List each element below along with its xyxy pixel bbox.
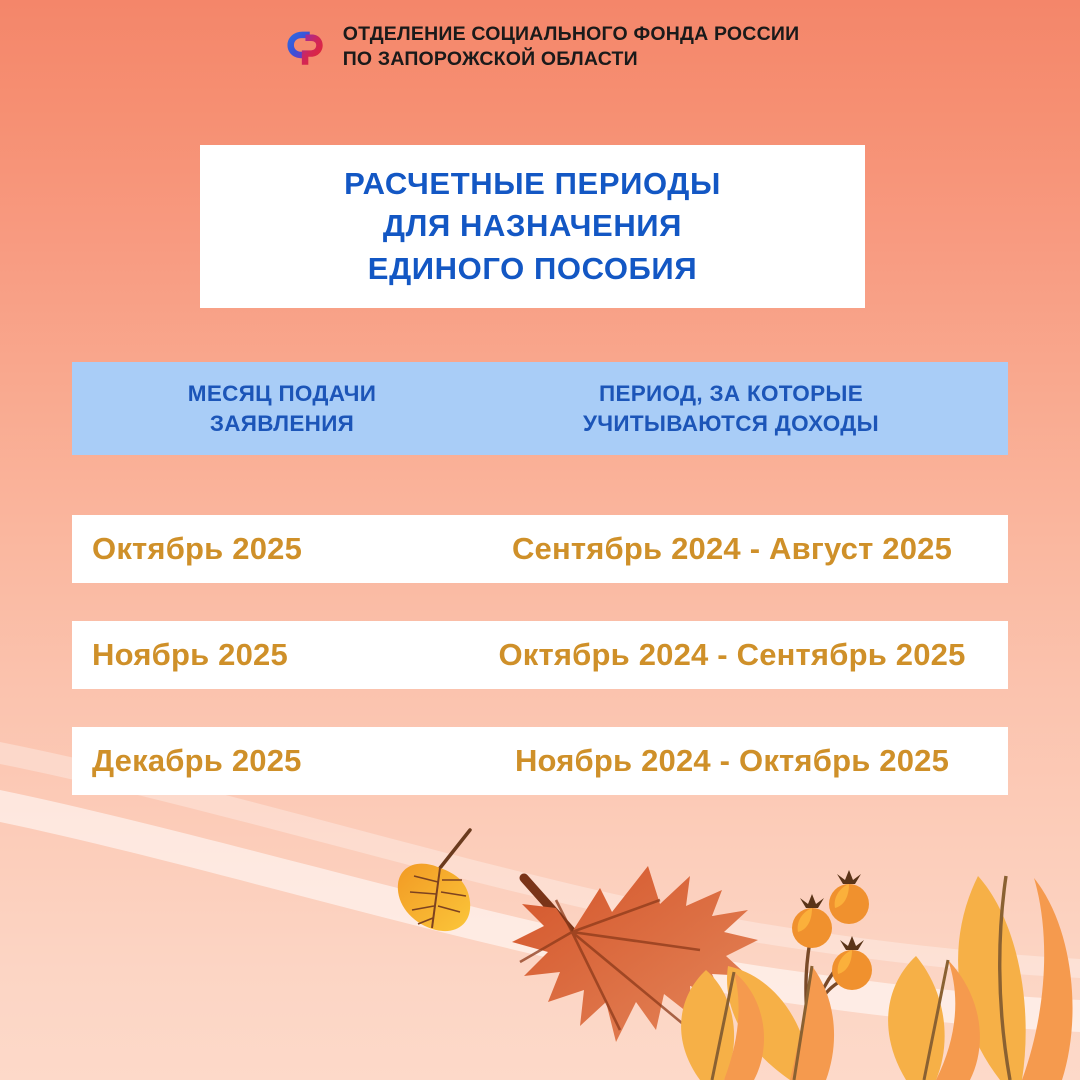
title-card: РАСЧЕТНЫЕ ПЕРИОДЫ ДЛЯ НАЗНАЧЕНИЯ ЕДИНОГО… bbox=[200, 145, 865, 308]
serrated-leaf-icon bbox=[681, 970, 764, 1080]
cell-month: Октябрь 2025 bbox=[72, 531, 472, 567]
title-line-1: РАСЧЕТНЫЕ ПЕРИОДЫ bbox=[344, 166, 721, 203]
brand-header: ОТДЕЛЕНИЕ СОЦИАЛЬНОГО ФОНДА РОССИИ ПО ЗА… bbox=[0, 22, 1080, 71]
table-rows: Октябрь 2025 Сентябрь 2024 - Август 2025… bbox=[72, 515, 1008, 833]
cell-period: Ноябрь 2024 - Октябрь 2025 bbox=[472, 743, 1008, 779]
title-line-2: ДЛЯ НАЗНАЧЕНИЯ bbox=[383, 208, 682, 245]
column-header-month: МЕСЯЦ ПОДАЧИ ЗАЯВЛЕНИЯ bbox=[72, 379, 472, 439]
cell-month: Декабрь 2025 bbox=[72, 743, 472, 779]
sfr-monogram-logo-icon bbox=[281, 23, 327, 69]
serrated-leaf-icon bbox=[727, 966, 834, 1080]
maple-leaf-icon bbox=[512, 866, 758, 1042]
table-row: Ноябрь 2025 Октябрь 2024 - Сентябрь 2025 bbox=[72, 621, 1008, 689]
table-row: Декабрь 2025 Ноябрь 2024 - Октябрь 2025 bbox=[72, 727, 1008, 795]
column-header-period: ПЕРИОД, ЗА КОТОРЫЕ УЧИТЫВАЮТСЯ ДОХОДЫ bbox=[472, 379, 1008, 439]
title-line-3: ЕДИНОГО ПОСОБИЯ bbox=[368, 251, 697, 288]
organization-name: ОТДЕЛЕНИЕ СОЦИАЛЬНОГО ФОНДА РОССИИ ПО ЗА… bbox=[343, 22, 800, 71]
serrated-leaf-icon bbox=[888, 956, 980, 1080]
infographic-poster: ОТДЕЛЕНИЕ СОЦИАЛЬНОГО ФОНДА РОССИИ ПО ЗА… bbox=[0, 0, 1080, 1080]
cell-period: Октябрь 2024 - Сентябрь 2025 bbox=[472, 637, 1008, 673]
table-row: Октябрь 2025 Сентябрь 2024 - Август 2025 bbox=[72, 515, 1008, 583]
cell-period: Сентябрь 2024 - Август 2025 bbox=[472, 531, 1008, 567]
rosehip-berries-icon bbox=[792, 870, 872, 1030]
birch-leaf-icon bbox=[398, 830, 470, 931]
table-header-bar: МЕСЯЦ ПОДАЧИ ЗАЯВЛЕНИЯ ПЕРИОД, ЗА КОТОРЫ… bbox=[72, 362, 1008, 455]
serrated-leaf-icon bbox=[958, 876, 1072, 1080]
cell-month: Ноябрь 2025 bbox=[72, 637, 472, 673]
